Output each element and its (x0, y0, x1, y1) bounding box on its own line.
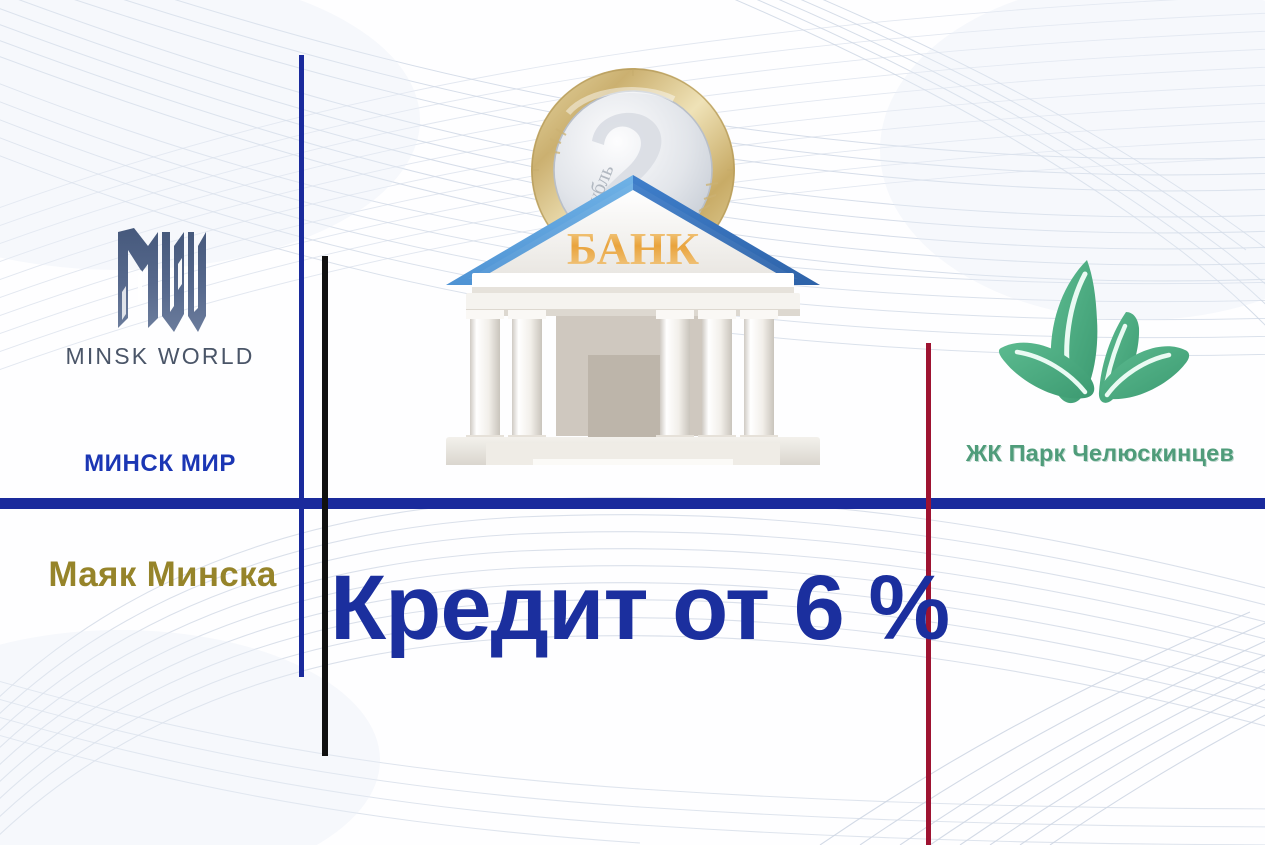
minsk-mir-label: МИНСК МИР (45, 450, 275, 478)
mw-monogram-icon (112, 228, 208, 333)
bank-building-icon: рубль БАНК (428, 55, 838, 465)
promo-banner: MINSK WORLD МИНСК МИР Маяк Минска (0, 0, 1265, 845)
green-leaf-icon (995, 250, 1195, 420)
park-chelyuskintsev-logo (995, 250, 1195, 420)
divider-horizontal-blue (0, 498, 1265, 509)
minsk-world-wordmark: MINSK WORLD (55, 343, 265, 370)
headline-credit-rate: Кредит от 6 % (330, 560, 930, 657)
mayak-minska-label: Маяк Минска (40, 555, 285, 595)
divider-vertical-black (322, 256, 328, 756)
bank-pediment-text: БАНК (567, 223, 699, 274)
divider-vertical-blue (299, 55, 304, 677)
park-chelyuskintsev-label: ЖК Парк Челюскинцев (940, 440, 1260, 467)
minsk-world-logo: MINSK WORLD (55, 228, 265, 370)
